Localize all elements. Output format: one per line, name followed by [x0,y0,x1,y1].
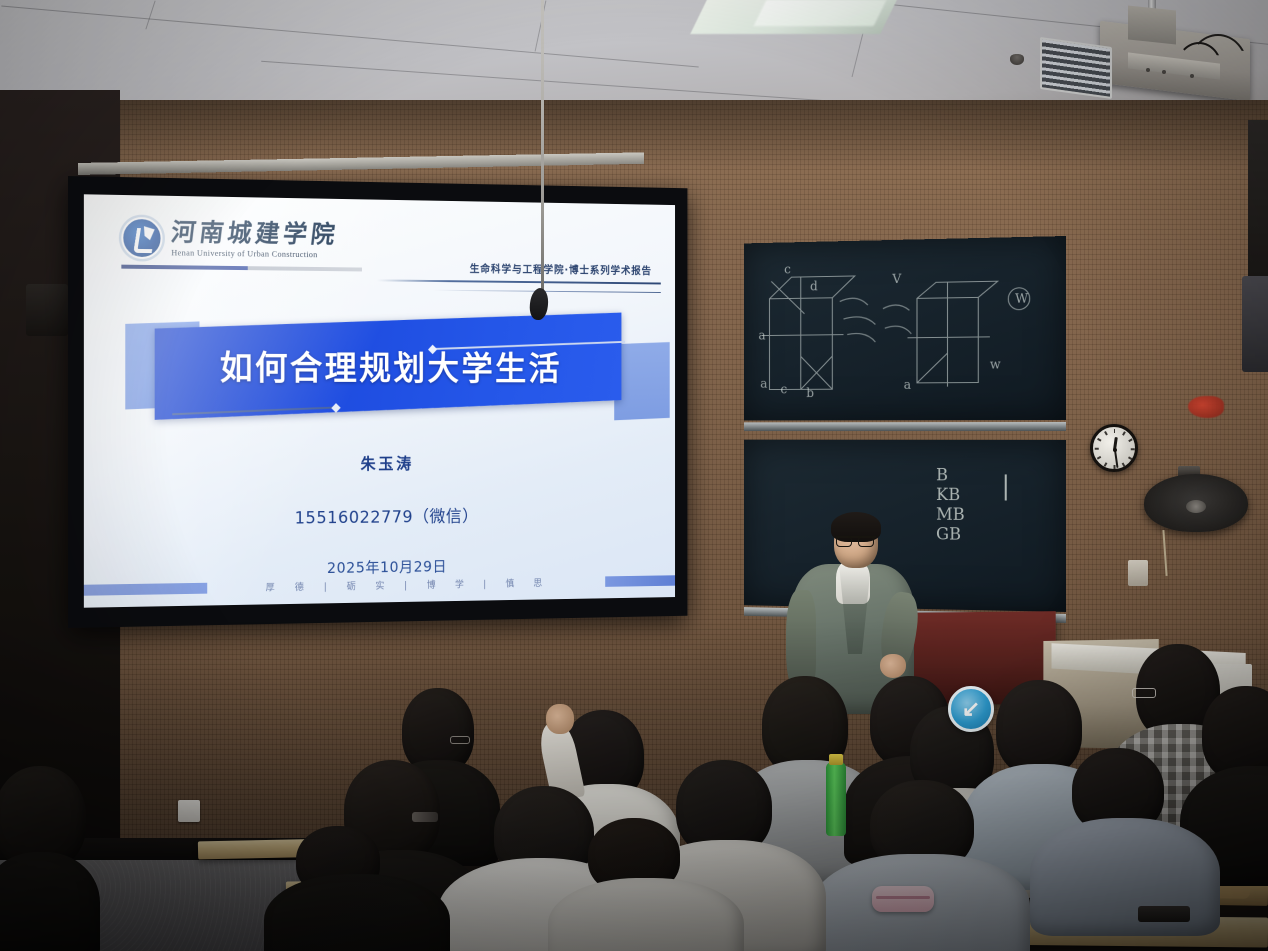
audience-member [826,780,1016,950]
power-outlet-icon [178,800,200,822]
footer-motto: 厚 德 | 砺 实 | 博 学 | 慎 思 [207,574,605,594]
presentation-slide: 河南城建学院 Henan University of Urban Constru… [84,194,675,607]
chalk-diagram-upper: a a c c b d V a W w [744,236,1066,422]
svg-text:c: c [784,261,791,276]
projector-ceiling-mount [1128,5,1176,44]
wall-red-object [1188,396,1224,418]
sprinkler-head-icon [1010,54,1024,65]
ceiling-light-glow [754,0,887,26]
audience-member [272,826,442,951]
footer-bar-right [605,575,675,587]
lecture-hall-photo: a a c c b d V a W w BKBMBGB | [0,0,1268,951]
slide-header-text: 生命科学与工程学院·博士系列学术报告 [470,261,652,278]
student-glasses-icon [450,736,470,744]
student-body [548,878,744,951]
fan-hub [1186,500,1206,513]
footer-bar-left [84,582,207,595]
slide-title: 如何合理规划大学生活 [219,340,561,389]
clock-center-pin [1113,448,1117,452]
projection-screen: 河南城建学院 Henan University of Urban Constru… [68,176,687,628]
logo-english-name: Henan University of Urban Construction [171,247,338,259]
svg-text:d: d [810,278,818,293]
bottle-cap [829,754,843,765]
audience-member [1038,748,1208,928]
svg-text:a: a [904,377,912,392]
svg-text:b: b [806,385,814,400]
hanging-microphone-cable [541,0,544,300]
slide-header-right: 生命科学与工程学院·博士系列学术报告 [470,261,652,278]
header-rule-secondary [433,290,661,293]
svg-text:a: a [758,327,766,342]
svg-text:V: V [891,271,902,286]
audience-member [0,766,104,951]
svg-text:a: a [760,376,768,391]
projector-vent-grille [1040,37,1112,99]
slide-title-zone: 如何合理规划大学生活 [84,312,675,430]
svg-text:W: W [1015,290,1028,306]
svg-text:w: w [990,356,1001,371]
logo-chinese-name: 河南城建学院 [170,220,340,247]
wall-switch-plate[interactable] [1128,560,1148,586]
title-accent-right [614,342,669,420]
university-crest-icon [121,217,162,259]
student-hand [546,704,574,734]
svg-text:c: c [780,381,787,396]
wall-clock [1090,424,1138,472]
student-body [1030,818,1220,936]
presenter-contact: 15516022779（微信） [84,500,675,530]
student-body [0,852,100,951]
student-glasses-icon [1132,688,1156,698]
pencil-case-zipper [876,896,930,899]
slide-body: 朱玉涛 15516022779（微信） 2025年10月29日 [84,449,675,581]
wall-speaker-right [1242,276,1268,372]
logo-underline-rule [121,265,362,272]
pencil-case [872,886,934,912]
chalk-ledge-upper [744,422,1066,431]
university-logo: 河南城建学院 Henan University of Urban Constru… [121,217,338,262]
chalk-units-list: BKBMBGB [936,465,965,544]
glasses-lens-right [858,536,874,547]
presenter-name: 朱玉涛 [84,449,675,476]
chalk-tally-mark: | [1001,472,1010,503]
hair-clip-icon [412,812,438,822]
phone-on-desk [1138,906,1190,922]
title-band: 如何合理规划大学生活 [155,313,622,420]
drink-bottle [826,762,846,836]
student-body [264,874,450,951]
presenter-hand [880,654,906,678]
audience-member [560,818,730,951]
header-rule [377,279,661,284]
wall-speaker-left [26,284,68,336]
glasses-lens-left [836,536,852,547]
